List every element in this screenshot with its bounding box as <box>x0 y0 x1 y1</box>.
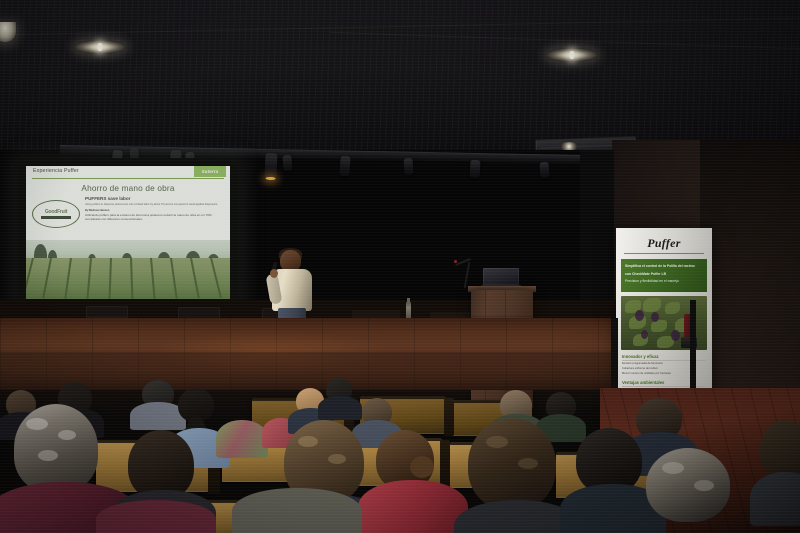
audience-bun <box>410 456 434 478</box>
laptop-lid <box>483 268 519 285</box>
slide-header-title: Experiencia Puffer <box>33 168 79 174</box>
stage-spotlight <box>265 153 278 178</box>
slide-vineyard-photo <box>26 240 230 299</box>
slide-title: Ahorro de mano de obra <box>26 184 230 193</box>
audience-head <box>468 418 556 510</box>
photo-ground <box>26 258 230 299</box>
stage-spotlight <box>282 155 292 172</box>
slide-body-heading: PUFFERS save labor <box>85 196 224 201</box>
presentation-laptop <box>481 268 521 288</box>
banner-title: Puffer <box>616 228 712 251</box>
banner-green-line: Precision y flexibilidad en el manejo <box>625 279 703 284</box>
stage-spotlight <box>539 162 549 179</box>
slide-brand-logo-label: Suterra <box>202 169 219 174</box>
banner-green-line: Simplifica el control de la Polilla del … <box>625 264 703 269</box>
stage-spotlight <box>470 160 481 178</box>
slide-body: GoodFruit PUFFERS save labor Using puffe… <box>26 193 230 240</box>
auditorium-presentation-photo: Experiencia Puffer Suterra Ahorro de man… <box>0 0 800 533</box>
ceiling-downlight <box>74 40 126 54</box>
slide-body-bullet: Utilizando puffers para la emision de fe… <box>85 213 224 222</box>
goodfruit-oval-logo: GoodFruit <box>32 200 80 228</box>
audience-shoulders <box>216 420 268 458</box>
presentation-slide: Experiencia Puffer Suterra Ahorro de man… <box>26 166 230 299</box>
oval-logo-text: GoodFruit <box>41 209 71 215</box>
banner-green-panel: Simplifica el control de la Polilla del … <box>621 259 707 292</box>
audience-shoulders <box>358 480 468 533</box>
slide-header: Experiencia Puffer Suterra <box>26 166 230 181</box>
slide-body-byline: By Melissa Hansen <box>85 209 224 212</box>
audience-head <box>14 404 98 492</box>
oval-logo-bar <box>41 216 71 219</box>
banner-title-rule <box>624 253 704 254</box>
banner-green-line: con CheckMate Puffer LB <box>625 272 703 277</box>
lectern-mic-head <box>454 260 457 263</box>
stage-spotlight <box>339 156 350 177</box>
audience-shoulders <box>750 472 800 526</box>
ceiling-downlight <box>546 48 598 62</box>
audience-shoulders <box>318 396 362 420</box>
slide-header-rule <box>32 178 224 179</box>
audience-shoulders <box>96 500 216 533</box>
presenter-hand <box>270 269 278 278</box>
slide-body-paragraph: Using puffers to dispense pheromone cuts… <box>85 203 224 207</box>
audience-shoulders <box>232 488 362 533</box>
projection-screen: Experiencia Puffer Suterra Ahorro de man… <box>18 162 238 307</box>
stage-spotlight <box>404 158 414 175</box>
slide-body-text: PUFFERS save labor Using puffers to disp… <box>80 196 224 240</box>
seat-armrest <box>444 398 454 436</box>
audience-head <box>760 420 800 480</box>
stage-chair <box>86 306 128 318</box>
slide-brand-logo: Suterra <box>194 166 226 177</box>
seat-armrest <box>440 440 450 488</box>
audience-head <box>646 448 730 522</box>
